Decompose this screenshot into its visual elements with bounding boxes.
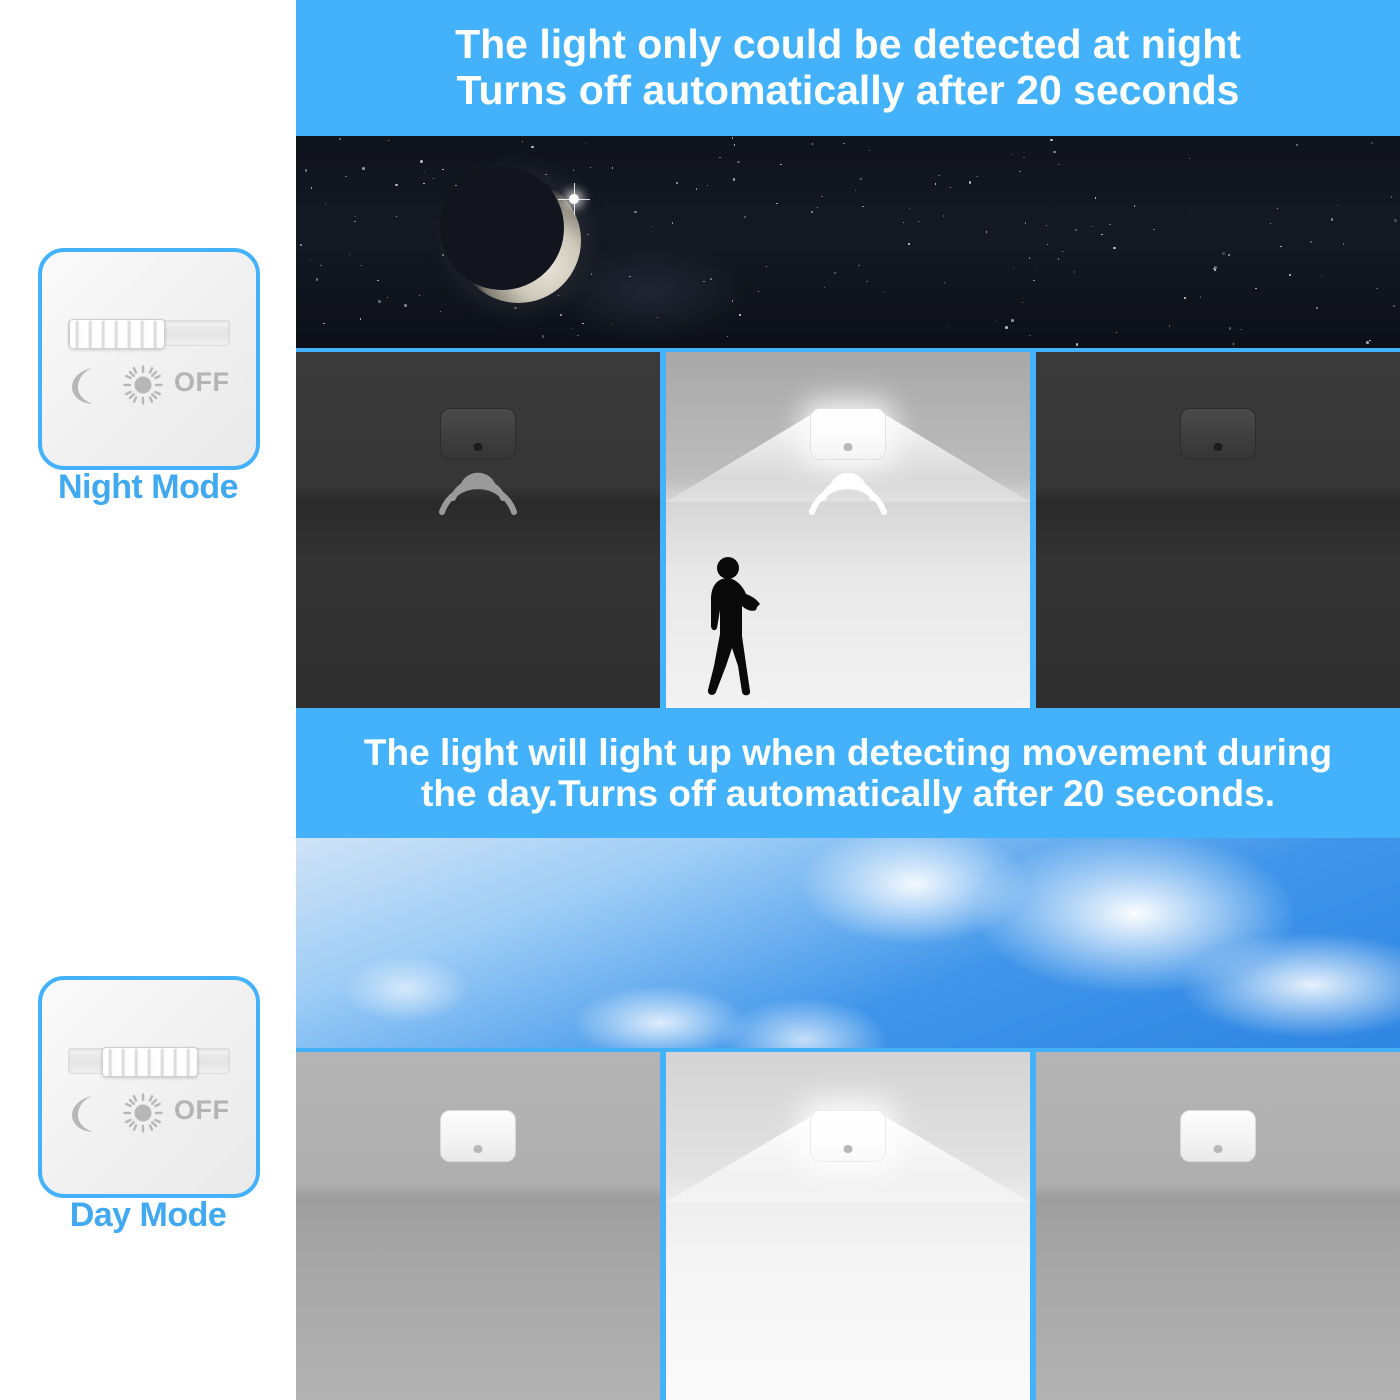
sun-icon xyxy=(122,364,164,406)
switch-track[interactable] xyxy=(68,1048,230,1074)
day-banner: The light will light up when detecting m… xyxy=(296,710,1400,836)
day-mode-card[interactable]: OFF xyxy=(38,976,260,1198)
sensor-dot-icon xyxy=(844,443,853,451)
day-mode-switch[interactable]: OFF xyxy=(60,1048,246,1148)
ceiling-light-icon xyxy=(810,1110,886,1162)
switch-icon-row: OFF xyxy=(60,358,246,416)
ceiling-light-icon xyxy=(440,1110,516,1162)
light-beam xyxy=(666,1052,1030,1400)
night-banner: The light only could be detected at nigh… xyxy=(296,0,1400,136)
mode-sidebar: OFF Night Mode xyxy=(0,0,296,1400)
scene-day-light-off-after xyxy=(1036,1052,1400,1400)
blue-sky-photo xyxy=(296,838,1400,1048)
scene-light-off-before xyxy=(296,352,660,708)
sensor-dot-icon xyxy=(844,1145,853,1153)
day-banner-line1: The light will light up when detecting m… xyxy=(364,732,1332,773)
night-sky-photo xyxy=(296,136,1400,348)
day-banner-line2: the day.Turns off automatically after 20… xyxy=(421,773,1275,814)
switch-off-label: OFF xyxy=(174,369,230,396)
scene-day-light-on xyxy=(666,1052,1030,1400)
night-banner-line2: Turns off automatically after 20 seconds xyxy=(456,68,1239,114)
moon-icon xyxy=(66,1094,100,1134)
night-mode-switch[interactable]: OFF xyxy=(60,320,246,420)
ceiling-light-icon xyxy=(1180,1110,1256,1162)
scene-light-on-motion xyxy=(666,352,1030,708)
switch-track[interactable] xyxy=(68,320,230,346)
night-mode-card[interactable]: OFF xyxy=(38,248,260,470)
moon-icon xyxy=(66,366,100,406)
sensor-dot-icon xyxy=(474,1145,483,1153)
sensor-dot-icon xyxy=(1214,1145,1223,1153)
ceiling-light-icon xyxy=(810,408,886,460)
switch-off-label: OFF xyxy=(174,1097,230,1124)
ceiling-light-icon xyxy=(1180,408,1256,460)
bright-star-icon xyxy=(569,194,579,204)
night-mode-label: Night Mode xyxy=(0,468,296,507)
ceiling-light-icon xyxy=(440,408,516,460)
night-scene-row xyxy=(296,352,1400,708)
day-mode-label: Day Mode xyxy=(0,1196,296,1235)
scene-day-light-off-before xyxy=(296,1052,660,1400)
switch-knob[interactable] xyxy=(102,1047,198,1077)
sensor-dot-icon xyxy=(1214,443,1223,451)
sensor-dot-icon xyxy=(474,443,483,451)
sensor-waves-icon xyxy=(435,464,521,516)
scene-light-off-after xyxy=(1036,352,1400,708)
switch-icon-row: OFF xyxy=(60,1086,246,1144)
sensor-waves-icon xyxy=(805,464,891,516)
switch-knob[interactable] xyxy=(69,319,165,349)
content-area: The light only could be detected at nigh… xyxy=(296,0,1400,1400)
crescent-moon-icon xyxy=(456,178,581,303)
night-banner-line1: The light only could be detected at nigh… xyxy=(455,22,1241,68)
walking-person-silhouette xyxy=(702,554,780,700)
sun-icon xyxy=(122,1092,164,1134)
day-scene-row xyxy=(296,1052,1400,1400)
